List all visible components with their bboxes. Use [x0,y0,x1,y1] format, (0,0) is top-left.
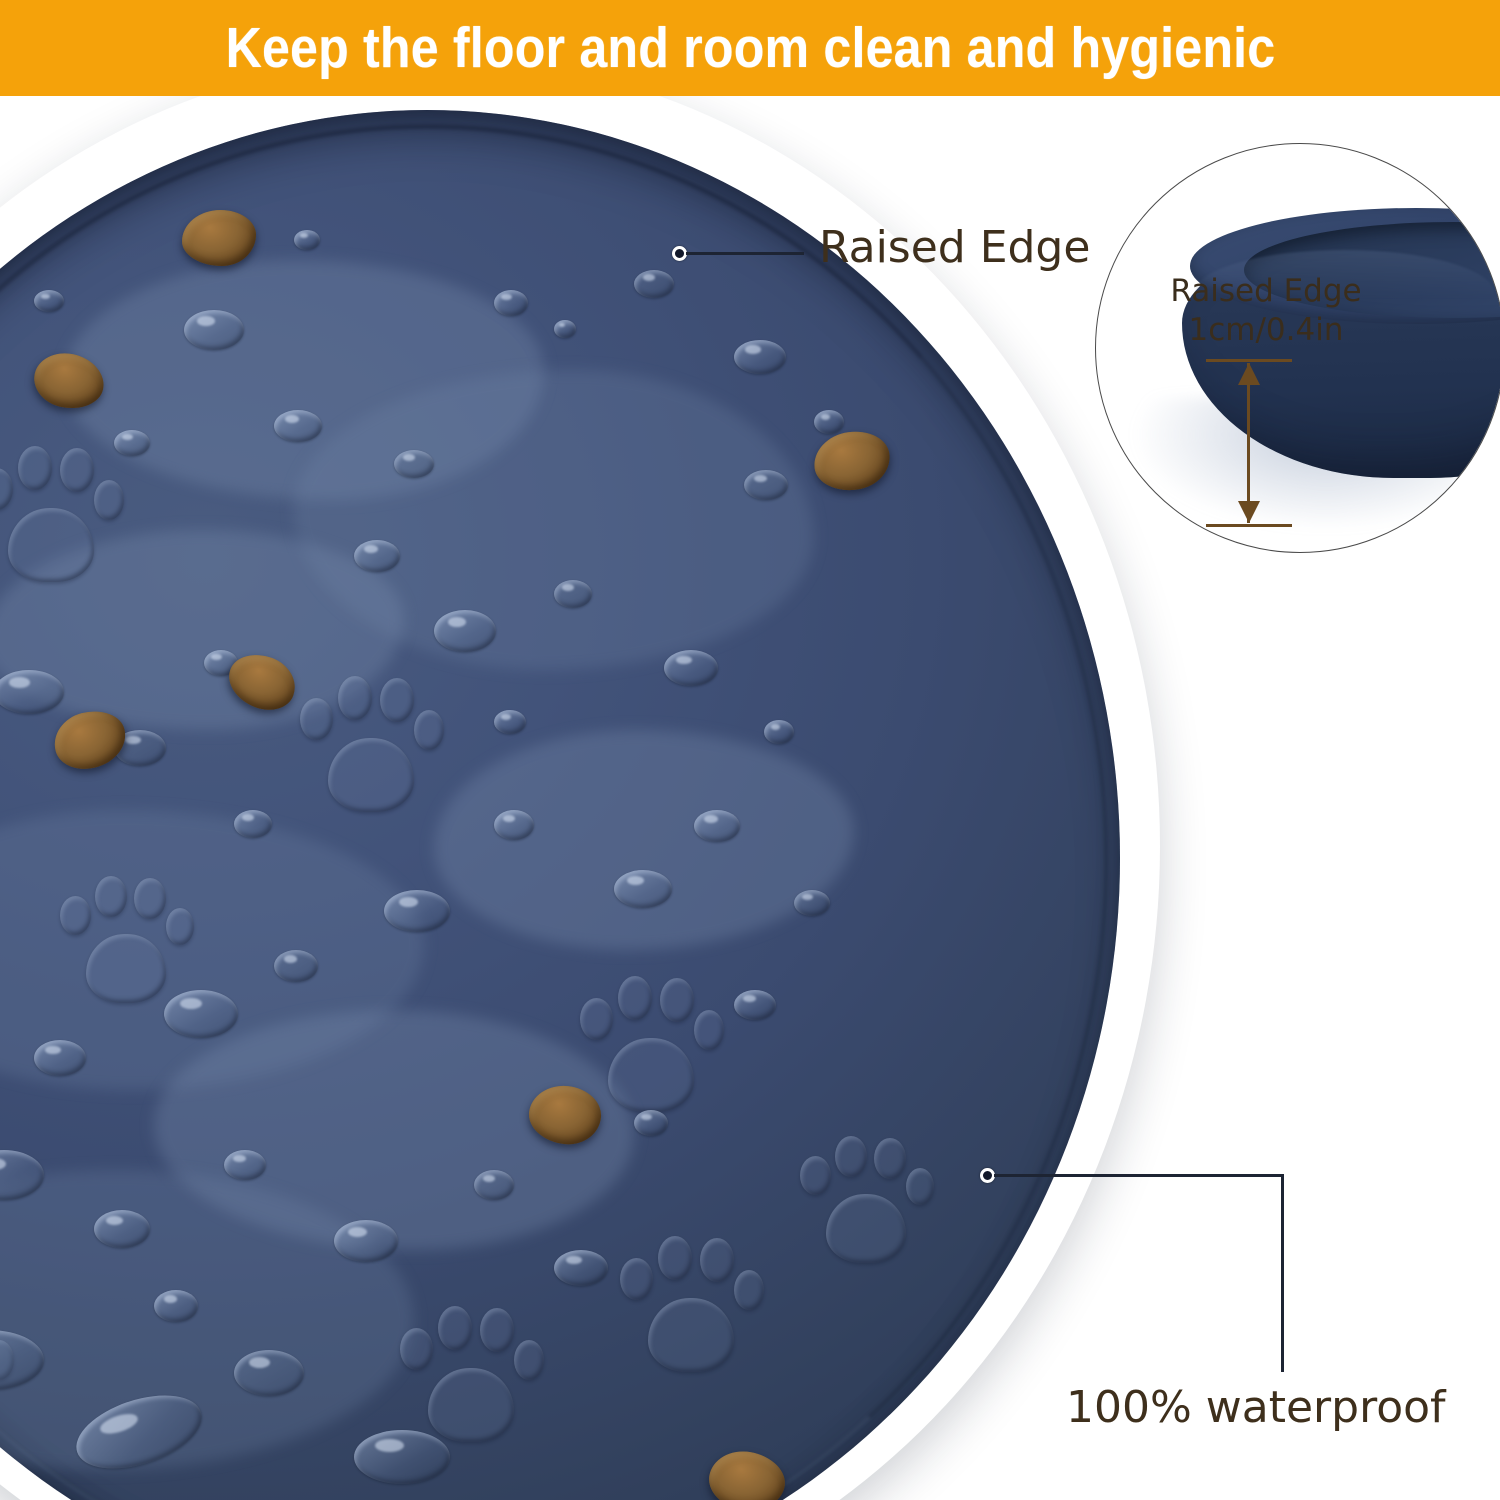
water-droplet [794,890,830,916]
water-droplet [164,990,238,1038]
dimension-arrowhead-down-icon [1238,501,1260,523]
leader-dot-icon [980,1168,995,1183]
callout-raised-edge-label: Raised Edge [819,222,1090,273]
paw-print-emboss [794,1130,934,1270]
dimension-arrowhead-up-icon [1238,363,1260,385]
water-droplet [354,540,400,572]
water-droplet [554,1250,608,1286]
water-droplet [434,610,496,652]
water-droplet [744,470,788,500]
water-droplet [734,340,786,374]
dimension-cap-bottom [1206,524,1292,527]
inset-caption: Raised Edge 1cm/0.4in [1116,272,1416,350]
water-droplet [114,430,150,456]
water-droplet [494,710,526,734]
dimension-arrow [1206,359,1302,527]
paw-print-emboss [0,440,124,590]
water-droplet [234,1350,304,1396]
water-droplet [294,230,320,250]
water-droplet [814,410,844,434]
water-droplet [634,1110,668,1136]
paw-print-emboss [574,970,724,1120]
leader-line-vertical [1281,1174,1284,1372]
water-droplet [34,1040,86,1076]
water-droplet [224,1150,266,1180]
leader-dot-icon [672,246,687,261]
water-droplet [494,810,534,840]
inset-caption-line1: Raised Edge [1116,272,1416,311]
water-droplet [334,1220,398,1262]
water-droplet [554,320,576,338]
callout-waterproof: 100% waterproof [980,1126,1500,1456]
water-droplet [34,290,64,312]
water-droplet [474,1170,514,1200]
water-droplet [764,720,794,744]
inset-caption-line2: 1cm/0.4in [1116,311,1416,350]
water-droplet [694,810,740,842]
kibble-piece [182,210,256,266]
water-droplet [234,810,272,838]
callout-raised-edge: Raised Edge [672,216,1092,296]
water-droplet [384,890,450,932]
header-banner: Keep the floor and room clean and hygien… [0,0,1500,96]
water-droplet [94,1210,150,1248]
water-droplet [634,270,674,298]
kibble-piece [810,427,893,495]
dimension-shaft [1247,363,1250,523]
water-droplet [184,310,244,350]
paw-print-emboss [394,1300,544,1450]
water-droplet [554,580,592,608]
leader-line [686,252,804,255]
water-droplet [734,990,776,1020]
water-droplet [394,450,434,478]
water-droplet [614,870,672,908]
dimension-cap-top [1206,359,1292,362]
water-droplet [0,670,64,714]
header-banner-text: Keep the floor and room clean and hygien… [225,15,1275,81]
paw-print-emboss [294,670,444,820]
leader-line-horizontal [994,1174,1284,1177]
water-droplet [274,950,318,982]
water-droplet [664,650,718,686]
inset-raised-edge-detail: Raised Edge 1cm/0.4in [1095,143,1500,553]
callout-waterproof-label: 100% waterproof [1066,1382,1446,1433]
kibble-piece [705,1446,790,1500]
water-droplet [354,1430,450,1484]
water-droplet [274,410,322,442]
water-droplet [494,290,528,316]
product-photo-stage: Raised Edge 100% waterproof Raised Edge … [0,96,1500,1500]
water-sheet [434,730,854,950]
water-droplet [154,1290,198,1322]
paw-print-emboss [614,1230,764,1380]
paw-print-emboss [54,870,194,1010]
